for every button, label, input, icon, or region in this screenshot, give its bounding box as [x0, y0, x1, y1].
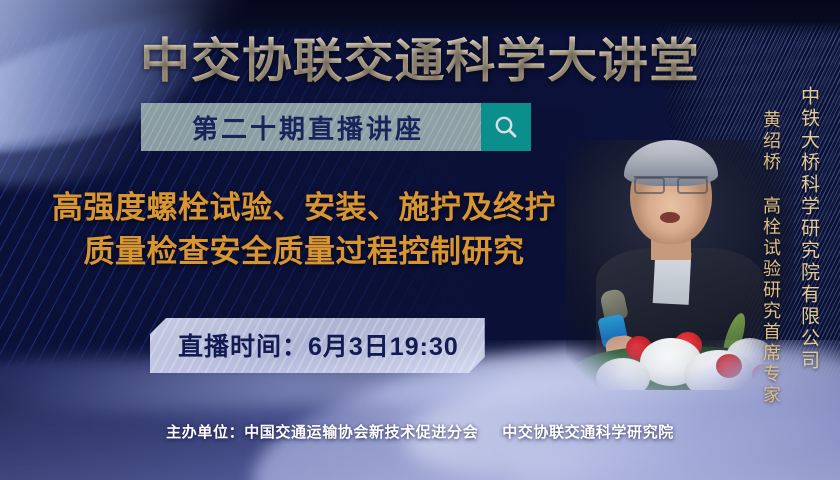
speaker-organization: 中铁大桥科学研究院有限公司 [795, 86, 822, 372]
flower-white-3 [596, 358, 650, 390]
session-bar: 第二十期直播讲座 [141, 103, 531, 151]
footer-prefix: 主办单位： [166, 424, 244, 441]
broadcast-time-text: 直播时间：6月3日19:30 [178, 333, 459, 361]
speaker-name-title: 黄绍桥 高栓试验研究首席专家 [758, 110, 784, 406]
broadcast-time-badge: 直播时间：6月3日19:30 [150, 318, 485, 373]
speaker-glasses [634, 176, 708, 191]
page-title: 中交协联交通科学大讲堂 [0, 22, 840, 91]
footer-org-1: 中国交通运输协会新技术促进分会 [244, 424, 478, 441]
headline-line-2: 质量检查安全质量过程控制研究 [14, 230, 594, 274]
flower-red-3 [716, 354, 742, 378]
speaker-mouth [660, 212, 680, 223]
search-icon[interactable] [481, 103, 531, 151]
headline-line-1: 高强度螺栓试验、安装、施拧及终拧 [14, 186, 594, 230]
headline: 高强度螺栓试验、安装、施拧及终拧 质量检查安全质量过程控制研究 [14, 186, 594, 274]
live-stream-poster: 中交协联交通科学大讲堂 第二十期直播讲座 高强度螺栓试验、安装、施拧及终拧 质量… [0, 0, 840, 480]
footer-org-2: 中交协联交通科学研究院 [502, 424, 674, 441]
session-bar-label: 第二十期直播讲座 [141, 103, 475, 151]
footer-organizers: 主办单位：中国交通运输协会新技术促进分会中交协联交通科学研究院 [0, 421, 840, 442]
